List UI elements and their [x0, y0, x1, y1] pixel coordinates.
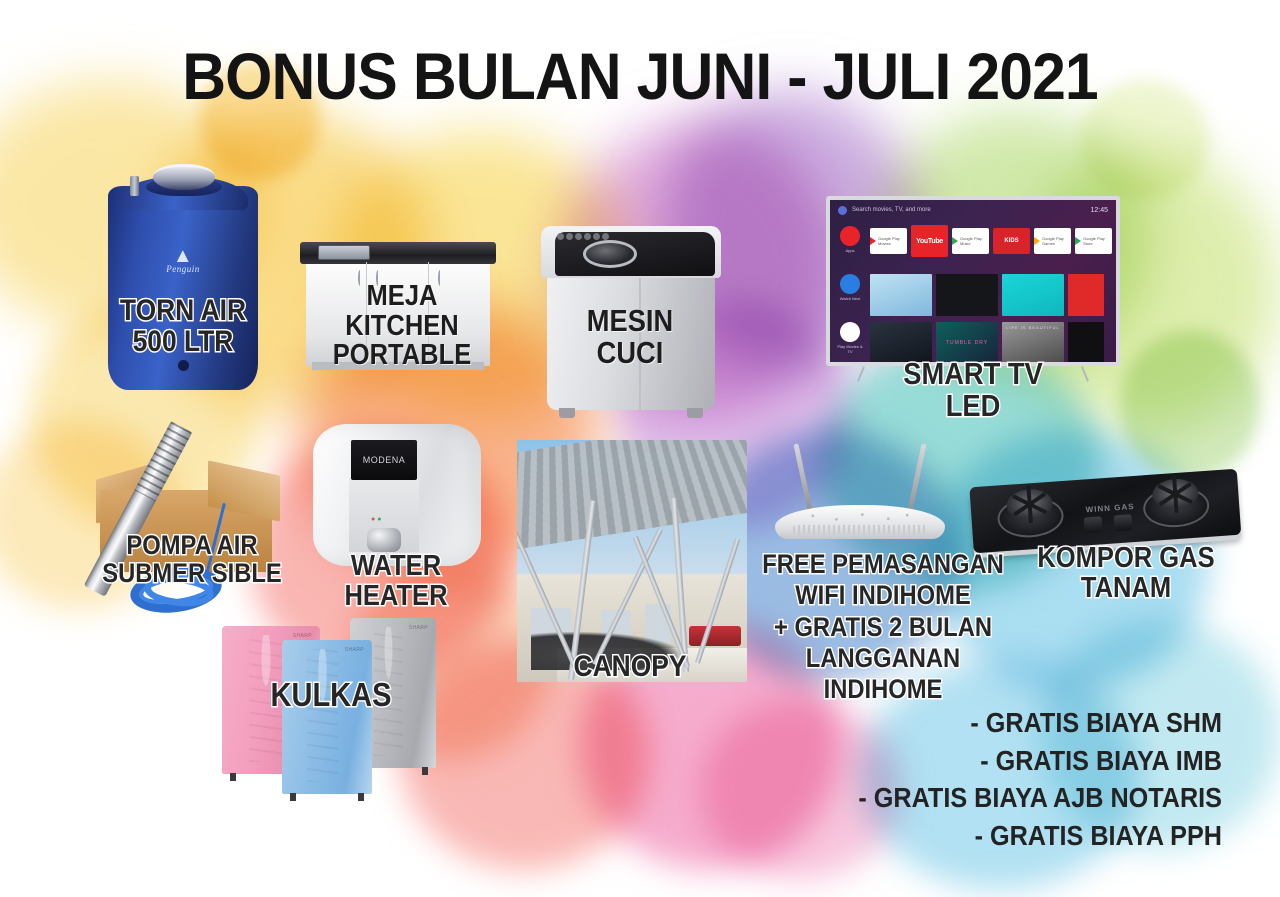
- fridge-leg: [230, 773, 236, 781]
- play-triangle-icon: [952, 237, 958, 245]
- heater-knob[interactable]: [367, 528, 401, 552]
- product-smart-tv: Search movies, TV, and more 12:45 Apps W…: [826, 196, 1120, 382]
- play-triangle-icon: [1034, 237, 1040, 245]
- washer-foot: [687, 408, 703, 418]
- tv-tile-caption: LIFE IS BEAUTIFUL: [1006, 325, 1059, 330]
- tv-app-row[interactable]: Google Play Movies YouTube Google Play M…: [870, 228, 1112, 257]
- label-gas-hob: KOMPOR GAS TANAM: [1024, 544, 1228, 603]
- benefits-list: - GRATIS BIAYA SHM - GRATIS BIAYA IMB - …: [858, 704, 1222, 854]
- tv-tile[interactable]: [1068, 274, 1104, 316]
- product-canopy-photo: [517, 440, 747, 682]
- washer-foot: [559, 408, 575, 418]
- hob-control-knob[interactable]: [1084, 516, 1103, 533]
- sink-icon: [318, 245, 370, 260]
- play-store-icon[interactable]: [840, 322, 860, 342]
- app-play-store[interactable]: Google Play Store: [1075, 228, 1112, 254]
- tank-drain: [178, 360, 189, 371]
- fridge-badge: SHARP: [409, 625, 428, 631]
- tv-tile-caption: TUMBLE DRY: [946, 340, 988, 346]
- benefit-item: - GRATIS BIAYA SHM: [858, 704, 1222, 742]
- tv-search-bar[interactable]: Search movies, TV, and more 12:45: [830, 200, 1116, 220]
- label-water-tank: TORN AIR 500 LTR: [110, 296, 256, 357]
- fridge-badge: SHARP: [345, 647, 364, 653]
- app-label: Google Play Store: [1083, 236, 1112, 246]
- youtube-icon: YouTube: [916, 238, 943, 245]
- fridge-leg: [290, 793, 296, 801]
- fridge-leg: [358, 793, 364, 801]
- app-play-movies[interactable]: Google Play Movies: [870, 228, 907, 254]
- benefit-item: - GRATIS BIAYA IMB: [858, 742, 1222, 780]
- washer-port-icon: [583, 240, 637, 268]
- app-label: Google Play Games: [1042, 236, 1071, 246]
- tank-nozzle: [130, 176, 139, 196]
- apps-grid-icon[interactable]: [840, 226, 860, 246]
- tv-search-placeholder: Search movies, TV, and more: [852, 207, 931, 213]
- youtube-kids-icon: KIDS: [1004, 238, 1018, 244]
- fridge-badge: SHARP: [293, 633, 312, 639]
- page-title: BONUS BULAN JUNI - JULI 2021: [51, 38, 1229, 114]
- label-canopy: CANOPY: [560, 652, 701, 683]
- router-vents: [793, 525, 927, 534]
- tank-lid: [153, 164, 215, 190]
- app-youtube[interactable]: YouTube: [911, 225, 948, 257]
- tv-tile[interactable]: [1002, 274, 1064, 316]
- router-antenna: [793, 443, 813, 516]
- play-circle-icon[interactable]: [840, 274, 860, 294]
- tv-rail-label: Apps: [845, 248, 854, 253]
- label-smart-tv: SMART TV LED: [874, 358, 1073, 421]
- tv-tile-row-1[interactable]: [870, 274, 1116, 316]
- label-refrigerator: KULKAS: [258, 678, 404, 712]
- play-triangle-icon: [1075, 237, 1081, 245]
- label-submersible-pump: POMPA AIR SUBMER SIBLE: [97, 532, 287, 587]
- tv-clock: 12:45: [1090, 207, 1108, 214]
- promo-poster: BONUS BULAN JUNI - JULI 2021 ▲ Penguin T…: [0, 0, 1280, 897]
- product-wifi-router: [775, 443, 945, 543]
- fridge-leg: [422, 767, 428, 775]
- router-antenna: [906, 443, 926, 516]
- hob-control-knob[interactable]: [1114, 514, 1133, 531]
- microphone-icon[interactable]: [838, 206, 847, 215]
- label-kitchen-table: MEJA KITCHEN PORTABLE: [309, 282, 496, 371]
- heater-brand-panel: MODENA: [351, 440, 417, 480]
- play-triangle-icon: [870, 237, 876, 245]
- app-label: Google Play Movies: [878, 236, 907, 246]
- label-washing-machine: MESIN CUCI: [557, 305, 703, 368]
- app-play-games[interactable]: Google Play Games: [1034, 228, 1071, 254]
- tv-rail-apps[interactable]: Apps: [835, 226, 865, 253]
- tv-screen: Search movies, TV, and more 12:45 Apps W…: [830, 200, 1116, 362]
- label-water-heater: WATER HEATER: [304, 552, 487, 611]
- penguin-icon: ▲ Penguin: [108, 248, 258, 274]
- heater-indicator-lights: ●●: [371, 516, 383, 523]
- tv-rail-watch-next[interactable]: Watch Next: [835, 274, 865, 301]
- tv-bezel: Search movies, TV, and more 12:45 Apps W…: [826, 196, 1120, 366]
- app-youtube-kids[interactable]: KIDS: [993, 228, 1030, 254]
- app-label: Google Play Music: [960, 236, 989, 246]
- benefit-item: - GRATIS BIAYA PPH: [858, 817, 1222, 855]
- tv-rail-label: Watch Next: [840, 296, 861, 301]
- tv-rail-label: Play Movies & TV: [835, 344, 865, 354]
- tank-brand-label: Penguin: [166, 264, 200, 274]
- tv-rail-play-movies[interactable]: Play Movies & TV: [835, 322, 865, 354]
- hob-grate: [1143, 473, 1207, 515]
- label-wifi-indihome: FREE PEMASANGAN WIFI INDIHOME + GRATIS 2…: [747, 549, 1020, 706]
- app-play-music[interactable]: Google Play Music: [952, 228, 989, 254]
- red-vehicle: [689, 626, 741, 646]
- tv-tile[interactable]: [936, 274, 998, 316]
- benefit-item: - GRATIS BIAYA AJB NOTARIS: [858, 779, 1222, 817]
- washer-control-panel: [557, 227, 623, 237]
- product-submersible-pump: [96, 420, 296, 620]
- hob-grate: [997, 483, 1061, 525]
- tv-tile[interactable]: [1068, 322, 1104, 362]
- fridge-pattern: [307, 649, 338, 781]
- router-texture: [801, 511, 919, 523]
- tv-tile[interactable]: [870, 274, 932, 316]
- refrigerator-blue: SHARP: [282, 640, 372, 794]
